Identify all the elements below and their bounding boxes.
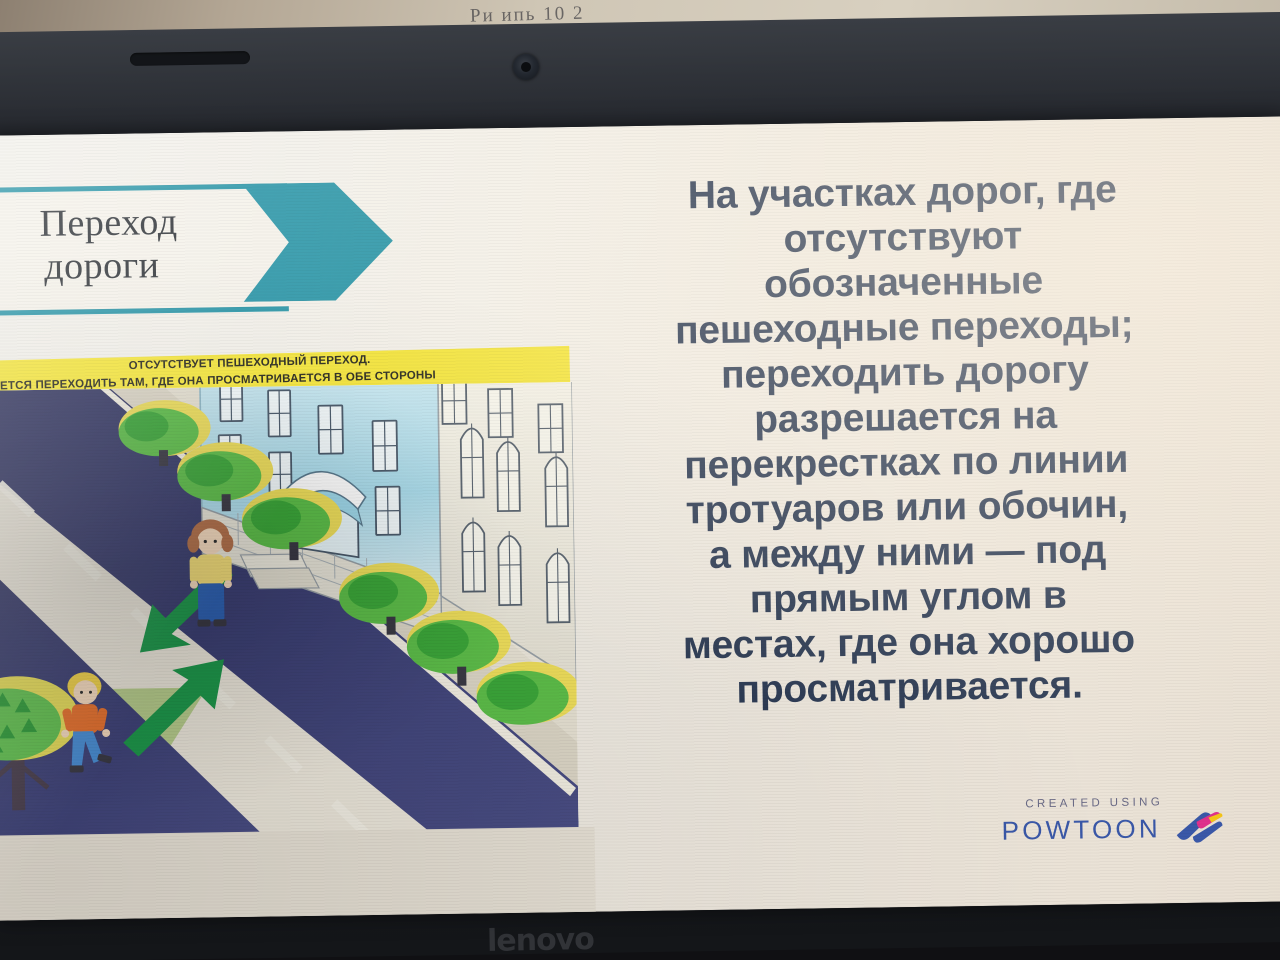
title-line-1: Переход (39, 201, 178, 245)
powtoon-watermark: CREATED USING POWTOON (1001, 795, 1237, 868)
body-line-4: пешеходные переходы; (584, 300, 1225, 355)
title-line-2: дороги (40, 243, 271, 290)
title-banner: Переход дороги (0, 182, 404, 306)
slide-bottom-strip (0, 827, 596, 921)
laptop-brand-label: lenovo (487, 920, 688, 958)
slide-body-text: На участках дорог, где отсутствуют обозн… (582, 165, 1230, 715)
powtoon-logo-row: POWTOON (1001, 810, 1236, 847)
street-crossing-illustration (0, 382, 579, 851)
powtoon-created-using-label: CREATED USING (1001, 795, 1236, 810)
speaker-vent-icon (130, 51, 250, 66)
powtoon-wordmark: POWTOON (1001, 813, 1161, 846)
slide-left-column: Переход дороги ОТСУТСТВУЕТ ПЕШЕХОДНЫЙ ПЕ… (0, 127, 588, 921)
photo-scene: Ри ипь 10 2 lenovo Переход дороги (0, 0, 1280, 960)
title-text: Переход дороги (39, 199, 270, 289)
laptop-screen: Переход дороги ОТСУТСТВУЕТ ПЕШЕХОДНЫЙ ПЕ… (0, 116, 1280, 920)
presentation-slide: Переход дороги ОТСУТСТВУЕТ ПЕШЕХОДНЫЙ ПЕ… (0, 116, 1280, 920)
powtoon-swoosh-icon (1171, 810, 1223, 845)
body-line-12: просматривается. (589, 661, 1230, 716)
